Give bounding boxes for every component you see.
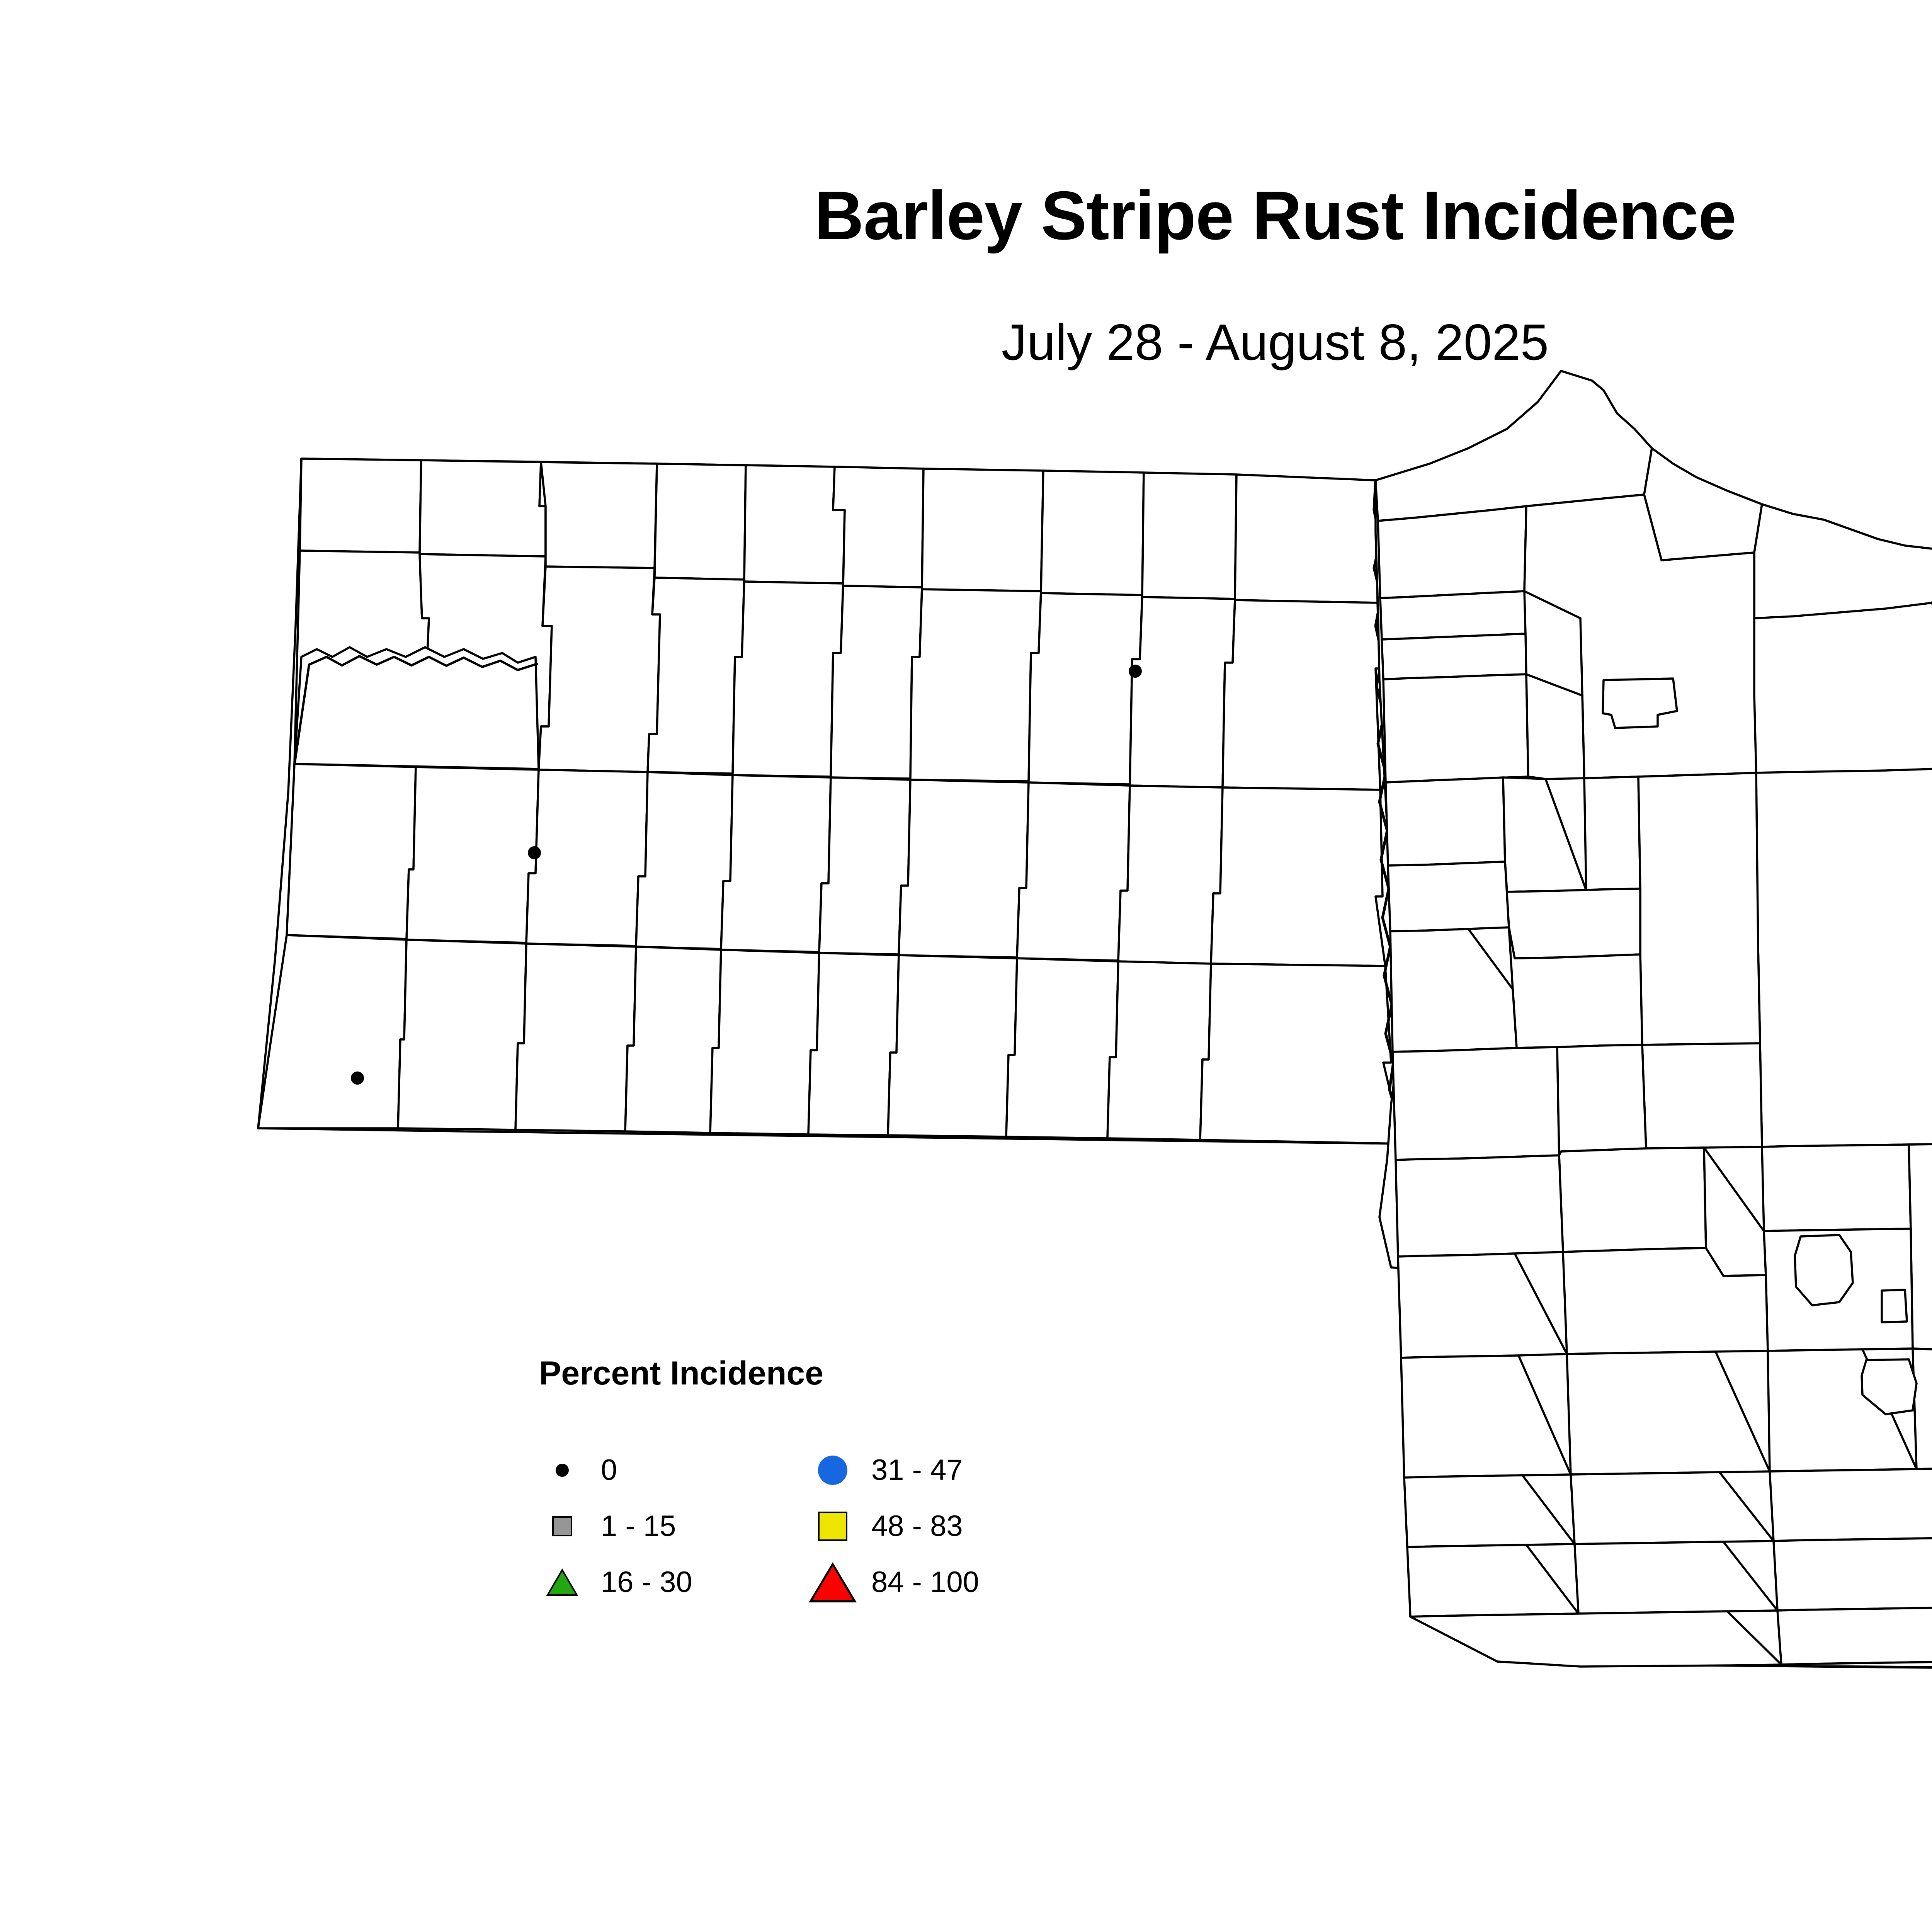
legend-label: 48 - 83 bbox=[871, 1505, 963, 1548]
map-figure: Barley Stripe Rust Incidence July 28 - A… bbox=[0, 0, 1932, 1932]
legend-label: 1 - 15 bbox=[601, 1505, 676, 1548]
legend-label: 31 - 47 bbox=[871, 1449, 963, 1492]
black-circle-small-icon bbox=[539, 1447, 585, 1493]
data-point[interactable] bbox=[351, 1071, 364, 1085]
yellow-square-icon bbox=[810, 1503, 856, 1549]
minnesota-counties bbox=[1376, 371, 1932, 1671]
data-point[interactable] bbox=[1129, 665, 1142, 678]
map-canvas bbox=[0, 0, 1932, 1932]
blue-circle-icon bbox=[810, 1447, 856, 1493]
legend-title: Percent Incidence bbox=[539, 1354, 823, 1393]
red-triangle-icon bbox=[810, 1559, 856, 1605]
gray-square-icon bbox=[539, 1503, 585, 1549]
legend-label: 84 - 100 bbox=[871, 1561, 979, 1604]
legend: Percent Incidence 0 1 - 15 16 - 30 31 - … bbox=[539, 1354, 1041, 1625]
legend-label: 16 - 30 bbox=[601, 1561, 692, 1604]
north-dakota-counties bbox=[258, 459, 1403, 1144]
legend-label: 0 bbox=[601, 1449, 617, 1492]
data-point[interactable] bbox=[528, 846, 541, 859]
green-triangle-icon bbox=[539, 1559, 585, 1605]
map-svg bbox=[0, 0, 1932, 1932]
